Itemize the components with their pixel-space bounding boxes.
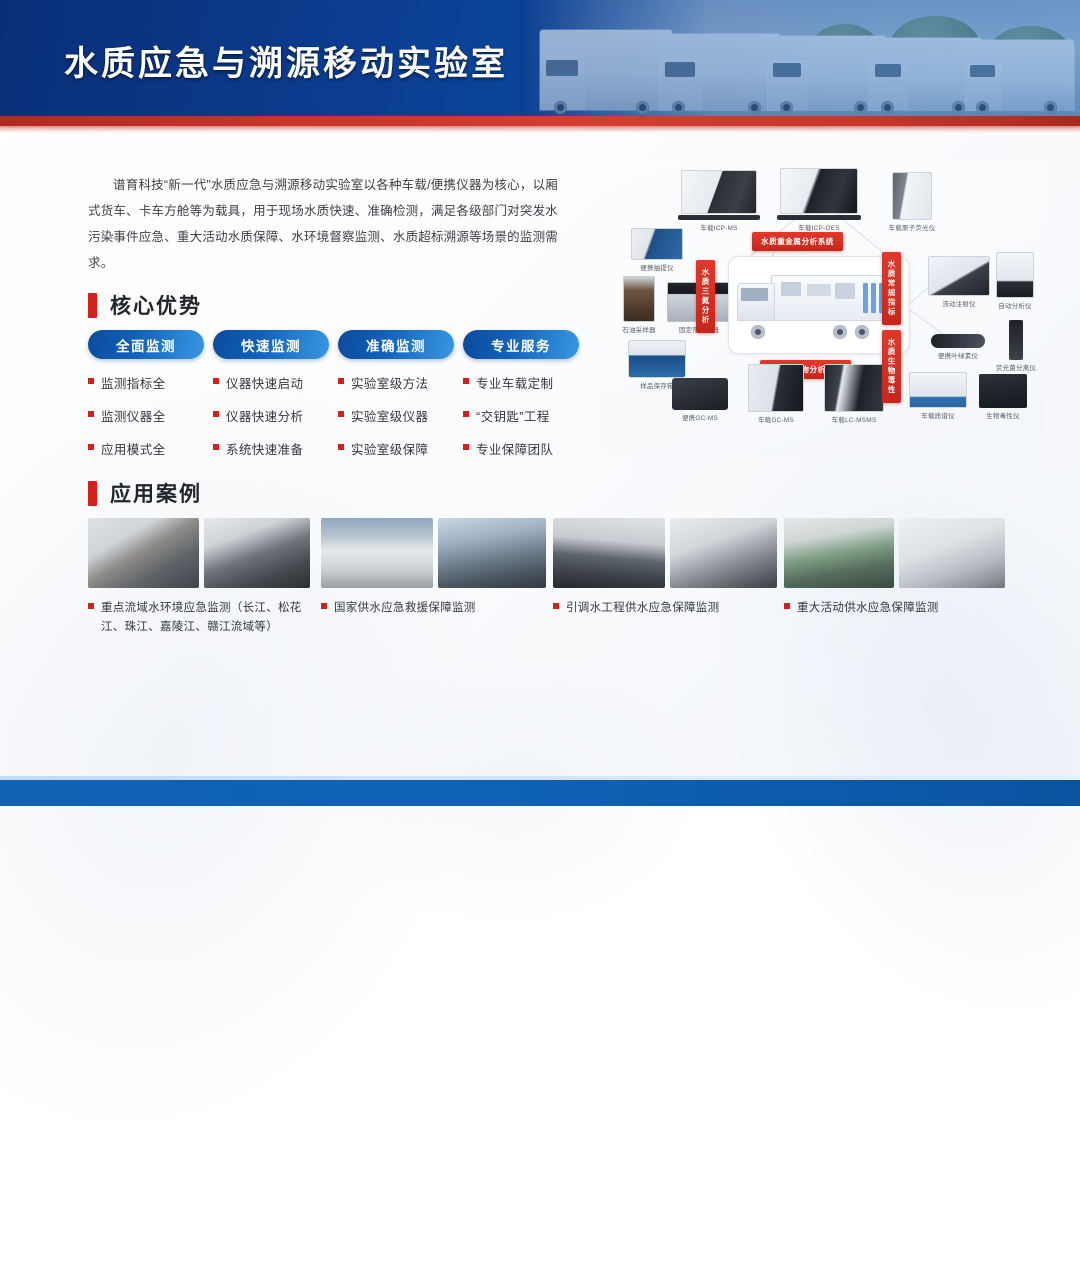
instrument-fluorescence-separator: 荧光菌分离仪 [988,320,1044,372]
instrument-label: 自动分析仪 [986,300,1044,310]
system-architecture-diagram: 车载ICP-MS 车载ICP-OES 车载原子荧光仪 水质重金属分析系统 便携抽… [600,160,1044,458]
case-photo[interactable] [899,518,1005,588]
badge-nitrogen-analysis: 水质三氮分析 [696,260,715,333]
tab-comprehensive-monitoring[interactable]: 全面监测 [88,330,204,359]
case-caption: 引调水工程供水应急保障监测 [553,599,777,618]
instrument-label: 石油采样器 [608,324,670,334]
instrument-portable-extractor: 便携抽提仪 [618,228,696,272]
instrument-biotoxicity: 生物毒性仪 [968,374,1038,420]
tab-professional-service[interactable]: 专业服务 [463,330,579,359]
list-item: 专业保障团队 [463,439,579,458]
bullet-square-icon [88,411,94,417]
case-item-2: 国家供水应急救援保障监测 [321,518,546,618]
list-item: “交钥匙”工程 [463,406,579,425]
case-photo[interactable] [321,518,433,588]
bullet-square-icon [338,444,344,450]
case-thumbnails [88,518,310,588]
case-photo[interactable] [438,518,546,588]
case-caption-text: 引调水工程供水应急保障监测 [566,599,719,618]
advantages-heading: 核心优势 [88,290,202,320]
bullet-square-icon [784,603,790,609]
list-item-label: 监测指标全 [101,373,166,392]
poster-page: 水质应急与溯源移动实验室 谱育科技“新一代”水质应急与溯源移动实验室以各种车载/… [0,0,1080,806]
case-photo[interactable] [784,518,894,588]
case-thumbnails [784,518,1006,588]
page-header: 水质应急与溯源移动实验室 [0,0,1080,116]
advantages-heading-text: 核心优势 [110,290,202,320]
instrument-label: 便携叶绿素仪 [918,350,998,360]
list-item-label: 监测仪器全 [101,406,166,425]
case-thumbnails [321,518,546,588]
bullet-square-icon [463,444,469,450]
instrument-label: 车载ICP-OES [772,222,866,232]
bullet-square-icon [213,444,219,450]
cases-heading-text: 应用案例 [110,478,202,508]
instrument-label: 车载LC-MSMS [812,414,896,424]
cases-heading: 应用案例 [88,478,202,508]
case-caption: 国家供水应急救援保障监测 [321,599,546,618]
instrument-oil-sampler: 石油采样器 [608,276,670,334]
list-item: 实验室级仪器 [338,406,454,425]
bullet-square-icon [463,411,469,417]
list-item: 实验室级方法 [338,373,454,392]
mobile-lab-truck-illustration [737,275,899,333]
list-item: 系统快速准备 [213,439,329,458]
badge-biological-toxicity: 水质生物毒性 [882,330,901,403]
advantage-column-3: 实验室级方法 实验室级仪器 实验室级保障 [338,373,454,472]
heading-marker-bar [88,481,97,506]
list-item: 应用模式全 [88,439,204,458]
instrument-label: 生物毒性仪 [968,410,1038,420]
list-item: 仪器快速启动 [213,373,329,392]
bullet-square-icon [463,378,469,384]
bullet-square-icon [338,378,344,384]
list-item-label: 实验室级方法 [351,373,428,392]
list-item-label: “交钥匙”工程 [476,406,550,425]
tab-accurate-monitoring[interactable]: 准确监测 [338,330,454,359]
bullet-square-icon [213,411,219,417]
instrument-icp-ms: 车载ICP-MS [672,170,766,232]
list-item-label: 实验室级保障 [351,439,428,458]
instrument-label: 荧光菌分离仪 [988,362,1044,372]
list-item-label: 仪器快速分析 [226,406,303,425]
heading-marker-bar [88,293,97,318]
list-item-label: 实验室级仪器 [351,406,428,425]
intro-text: 谱育科技“新一代”水质应急与溯源移动实验室以各种车载/便携仪器为核心，以厢式货车… [88,178,558,270]
list-item: 实验室级保障 [338,439,454,458]
list-item: 监测指标全 [88,373,204,392]
advantages-section: 全面监测 快速监测 准确监测 专业服务 监测指标全 监测仪器全 应用模式全 仪器… [88,330,588,472]
page-title: 水质应急与溯源移动实验室 [64,36,508,85]
advantages-tab-row: 全面监测 快速监测 准确监测 专业服务 [88,330,588,359]
case-photo[interactable] [670,518,777,588]
list-item-label: 专业车载定制 [476,373,553,392]
advantage-column-2: 仪器快速启动 仪器快速分析 系统快速准备 [213,373,329,472]
case-caption: 重大活动供水应急保障监测 [784,599,1006,618]
list-item-label: 仪器快速启动 [226,373,303,392]
badge-routine-indicators: 水质常规指标 [882,252,901,325]
list-item-label: 专业保障团队 [476,439,553,458]
instrument-label: 车载GC-MS [734,414,818,424]
page-footer [0,780,1080,806]
bullet-square-icon [88,444,94,450]
advantage-column-1: 监测指标全 监测仪器全 应用模式全 [88,373,204,472]
tab-rapid-monitoring[interactable]: 快速监测 [213,330,329,359]
list-item: 监测仪器全 [88,406,204,425]
instrument-icp-oes: 车载ICP-OES [772,168,866,232]
case-caption-text: 国家供水应急救援保障监测 [334,599,476,618]
instrument-atomic-fluorescence: 车载原子荧光仪 [872,172,952,232]
bullet-square-icon [321,603,327,609]
case-thumbnails [553,518,777,588]
instrument-label: 便携GC-MS [658,412,742,422]
list-item-label: 应用模式全 [101,439,166,458]
bullet-square-icon [213,378,219,384]
instrument-portable-gc-ms: 便携GC-MS [658,378,742,422]
list-item-label: 系统快速准备 [226,439,303,458]
bullet-square-icon [88,603,94,609]
header-accent-stripe-shadow [0,126,1080,133]
case-photo[interactable] [88,518,199,588]
advantage-column-4: 专业车载定制 “交钥匙”工程 专业保障团队 [463,373,579,472]
instrument-portable-chlorophyll: 便携叶绿素仪 [918,334,998,360]
bullet-square-icon [553,603,559,609]
header-accent-stripe [0,116,1080,126]
bullet-square-icon [88,378,94,384]
case-caption: 重点流域水环境应急监测（长江、松花江、珠江、嘉陵江、赣江流域等） [88,599,310,637]
case-photo[interactable] [204,518,310,588]
case-item-1: 重点流域水环境应急监测（长江、松花江、珠江、嘉陵江、赣江流域等） [88,518,310,637]
case-caption-text: 重大活动供水应急保障监测 [797,599,939,618]
advantages-columns: 监测指标全 监测仪器全 应用模式全 仪器快速启动 仪器快速分析 系统快速准备 实… [88,373,588,472]
badge-heavy-metal-system: 水质重金属分析系统 [752,232,843,251]
instrument-auto-analyzer: 自动分析仪 [986,252,1044,310]
list-item: 仪器快速分析 [213,406,329,425]
case-item-3: 引调水工程供水应急保障监测 [553,518,777,618]
case-item-4: 重大活动供水应急保障监测 [784,518,1006,618]
list-item: 专业车载定制 [463,373,579,392]
case-photo[interactable] [553,518,665,588]
case-caption-text: 重点流域水环境应急监测（长江、松花江、珠江、嘉陵江、赣江流域等） [101,599,310,637]
bullet-square-icon [338,411,344,417]
instrument-label: 车载原子荧光仪 [872,222,952,232]
instrument-label: 便携抽提仪 [618,262,696,272]
header-truck-fleet-photo [520,0,1080,116]
instrument-vehicle-gc-ms: 车载GC-MS [734,364,818,424]
intro-paragraph: 谱育科技“新一代”水质应急与溯源移动实验室以各种车载/便携仪器为核心，以厢式货车… [88,172,558,276]
